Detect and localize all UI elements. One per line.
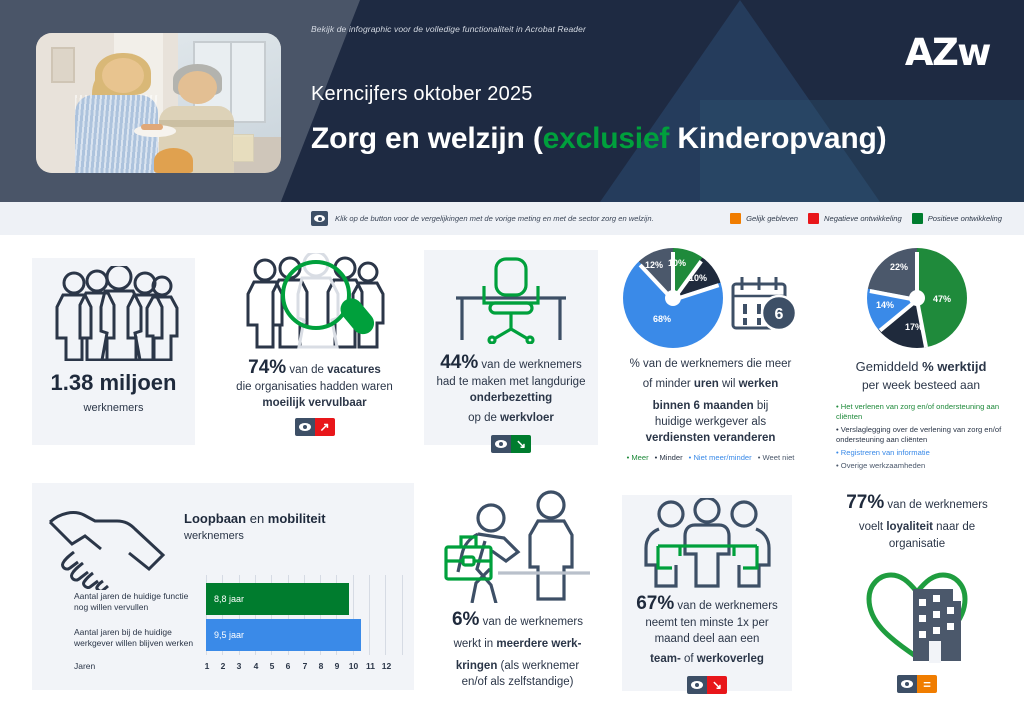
eye-icon[interactable] [311, 211, 328, 226]
vacancies-badge[interactable]: ↗ [295, 418, 335, 436]
loyalty-line2-c: naar de [933, 521, 975, 533]
pie-label-nietmeerminder: 68% [653, 314, 671, 324]
legend-key-positief: Positieve ontwikkeling [912, 213, 1002, 224]
pie-chart-worktime: 47% 17% 14% 22% [867, 248, 967, 348]
understaffing-value: 44% [440, 352, 478, 373]
equals-icon[interactable]: = [917, 675, 937, 693]
worktime-title: Gemiddeld % werktijd per week besteed aa… [822, 356, 1020, 394]
understaffing-stat: 44% van de werknemers had te maken met l… [424, 350, 598, 454]
legend-label-negatief: Negatieve ontwikkeling [824, 214, 902, 223]
worktime-legend-zorg: Het verlenen van zorg en/of ondersteunin… [836, 402, 1020, 422]
meetings-stat: 67% van de werknemers neemt ten minste 1… [622, 591, 792, 695]
title-part-1: Zorg en welzijn ( [311, 122, 543, 155]
vacancies-value: 74% [248, 357, 286, 378]
worktime-legend-verslag: Verslaglegging over de verlening van zor… [836, 425, 1020, 445]
hours-cap-l2c: wil [719, 378, 739, 390]
title-highlight: exclusief [543, 122, 670, 155]
infographic-page: Bekijk de infographic voor de volledige … [0, 0, 1024, 703]
card-loyalty: 77% van de werknemers voelt loyaliteit n… [812, 490, 1022, 695]
legend-swatch-green [912, 213, 923, 224]
legend-keys: Gelijk gebleven Negatieve ontwikkeling P… [730, 202, 1002, 235]
eye-icon[interactable] [897, 675, 917, 693]
people-with-magnifier-icon [222, 250, 407, 355]
eye-icon[interactable] [491, 435, 511, 453]
xtick-3: 3 [232, 661, 246, 671]
meetings-line4-a: team- [650, 653, 681, 665]
card-multijob: 6% van de werknemers werkt in meerdere w… [420, 483, 615, 693]
workers-stat: 1.38 miljoen werknemers [32, 368, 195, 416]
card-meetings: 67% van de werknemers neemt ten minste 1… [622, 495, 792, 691]
svg-text:6: 6 [775, 306, 784, 323]
hours-cap-l4: huidige werkgever als [608, 415, 813, 430]
understaffing-line2: had te maken met langdurige [424, 375, 598, 390]
bar-1: 9,5 jaar [206, 619, 361, 651]
multijob-line3-rest: (als werknemer [497, 660, 579, 672]
eye-icon[interactable] [687, 676, 707, 694]
title-part-2: Kinderopvang) [669, 122, 886, 155]
xtick-9: 9 [330, 661, 344, 671]
vacancies-line1-rest: van de [286, 364, 327, 376]
worktime-subtitle: per week besteed aan [822, 377, 1020, 393]
pie-label-minder: 10% [689, 273, 707, 283]
pie-label-registreren: 14% [876, 300, 894, 310]
bar-label-0: Aantal jaren de huidige functie nog will… [74, 591, 202, 613]
pie-label-zorg: 47% [933, 294, 951, 304]
legend-swatch-orange [730, 213, 741, 224]
bar-value-1: 9,5 jaar [214, 630, 244, 640]
multijob-line1-rest: van de werknemers [479, 616, 583, 628]
pie-legend-meer: Meer [627, 453, 649, 462]
header-photo [36, 33, 281, 173]
career-bar-chart: Aantal jaren de huidige functie nog will… [46, 575, 402, 680]
vacancies-line2: die organisaties hadden waren [222, 380, 407, 395]
legend-label-positief: Positieve ontwikkeling [928, 214, 1002, 223]
workers-label: werknemers [32, 401, 195, 416]
card-workers: 1.38 miljoen werknemers [32, 258, 195, 445]
legend-key-gelijk: Gelijk gebleven [730, 213, 798, 224]
meeting-table-icon [622, 495, 792, 591]
vacancies-line3: moeilijk vervulbaar [222, 396, 407, 411]
worktime-title-b: % werktijd [922, 359, 986, 374]
hours-caption: % van de werknemers die meer of minder u… [608, 357, 813, 446]
xtick-2: 2 [216, 661, 230, 671]
page-header: Bekijk de infographic voor de volledige … [0, 0, 1024, 202]
xtick-6: 6 [281, 661, 295, 671]
bar-value-0: 8,8 jaar [214, 594, 244, 604]
loyalty-line2-b: loyaliteit [886, 521, 933, 533]
hours-cap-l2d: werken [739, 378, 779, 390]
pie-label-weetniet: 12% [645, 260, 663, 270]
heart-and-building-icon [812, 558, 1022, 668]
calendar-icon: 6 [728, 274, 798, 336]
acrobat-reader-note: Bekijk de infographic voor de volledige … [311, 24, 586, 34]
vacancies-line1-bold: vacatures [327, 364, 381, 376]
career-title-b: en [246, 511, 268, 526]
pie-label-verslag: 17% [905, 322, 923, 332]
hours-cap-l2a: of minder [643, 378, 694, 390]
loyalty-stat: 77% van de werknemers voelt loyaliteit n… [812, 490, 1022, 552]
understaffing-line4-bold: werkvloer [500, 412, 554, 424]
eye-icon[interactable] [295, 418, 315, 436]
understaffing-line4-rest: op de [468, 412, 500, 424]
worktime-title-a: Gemiddeld [856, 359, 922, 374]
pie-legend-worktime: Het verlenen van zorg en/of ondersteunin… [822, 402, 1020, 472]
career-subtitle: werknemers [184, 530, 326, 542]
loyalty-line3: organisatie [812, 537, 1022, 552]
legend-key-negatief: Negatieve ontwikkeling [808, 213, 902, 224]
card-understaffing: 44% van de werknemers had te maken met l… [424, 250, 598, 445]
career-title-c: mobiliteit [268, 511, 326, 526]
card-vacancies: 74% van de vacatures die organisaties ha… [222, 250, 407, 450]
loyalty-badge[interactable]: = [897, 675, 937, 693]
workers-value: 1.38 miljoen [32, 368, 195, 397]
walking-person-with-briefcase-icon [420, 483, 615, 605]
xtick-11: 11 [362, 661, 379, 671]
xtick-12: 12 [378, 661, 395, 671]
understaffing-badge[interactable]: ↘ [491, 435, 531, 453]
bar-label-1: Aantal jaren bij de huidige werkgever wi… [74, 627, 202, 649]
meetings-line1-rest: van de werknemers [674, 600, 778, 612]
pie-legend-minder: Minder [655, 453, 683, 462]
meetings-line3: maand deel aan een [622, 632, 792, 647]
multijob-line4: en/of als zelfstandige) [420, 675, 615, 690]
meetings-line4-c: werkoverleg [697, 653, 764, 665]
vacancies-stat: 74% van de vacatures die organisaties ha… [222, 355, 407, 438]
multijob-line2-a: werkt in [454, 638, 497, 650]
xtick-5: 5 [265, 661, 279, 671]
bar-axis-title: Jaren [74, 661, 95, 671]
hours-cap-l3a: binnen 6 maanden [653, 400, 754, 412]
hours-cap-l5: verdiensten veranderen [608, 431, 813, 446]
xtick-1: 1 [200, 661, 214, 671]
loyalty-value: 77% [846, 492, 884, 513]
meetings-value: 67% [636, 593, 674, 614]
multijob-stat: 6% van de werknemers werkt in meerdere w… [420, 607, 615, 691]
pie-legend-hours: Meer Minder Niet meer/minder Weet niet [608, 453, 813, 462]
legend-swatch-red [808, 213, 819, 224]
xtick-8: 8 [314, 661, 328, 671]
arrow-up-icon[interactable]: ↗ [315, 418, 335, 436]
arrow-down-icon[interactable]: ↘ [707, 676, 727, 694]
pie-legend-nietmeerminder: Niet meer/minder [689, 453, 752, 462]
card-hours: 10% 10% 68% 12% 6 % van de werknemers di… [608, 248, 813, 470]
header-kicker: Kerncijfers oktober 2025 [311, 83, 533, 106]
hours-cap-l3b: bij [754, 400, 769, 412]
meetings-line4-b: of [681, 653, 697, 665]
understaffing-line1-rest: van de werknemers [478, 359, 582, 371]
career-title-a: Loopbaan [184, 511, 246, 526]
understaffing-line3: onderbezetting [424, 391, 598, 406]
pie-label-overige: 22% [890, 262, 908, 272]
group-of-people-icon [32, 258, 195, 368]
xtick-7: 7 [298, 661, 312, 671]
card-worktime: 47% 17% 14% 22% Gemiddeld % werktijd per… [822, 248, 1020, 470]
page-title: Zorg en welzijn (exclusief Kinderopvang) [311, 122, 886, 156]
multijob-line2-b: meerdere werk- [496, 638, 581, 650]
legend-label-gelijk: Gelijk gebleven [746, 214, 798, 223]
meetings-line2: neemt ten minste 1x per [622, 616, 792, 631]
worktime-legend-registreren: Registreren van informatie [836, 448, 1020, 458]
card-career: Loopbaan en mobiliteit werknemers Aantal… [32, 483, 414, 690]
arrow-down-icon[interactable]: ↘ [511, 435, 531, 453]
meetings-badge[interactable]: ↘ [687, 676, 727, 694]
bar-0: 8,8 jaar [206, 583, 349, 615]
multijob-line3-b: kringen [456, 660, 498, 672]
loyalty-line1-rest: van de werknemers [884, 499, 988, 511]
pie-label-meer: 10% [668, 258, 686, 268]
pie-chart-hours: 10% 10% 68% 12% [623, 248, 723, 348]
desk-and-chair-icon [424, 250, 598, 350]
azw-logo[interactable]: AZw [905, 31, 990, 74]
xtick-4: 4 [249, 661, 263, 671]
worktime-legend-overige: Overige werkzaamheden [836, 461, 1020, 471]
legend-instruction: Klik op de button voor de vergelijkingen… [335, 214, 654, 223]
hours-cap-l1: % van de werknemers die meer [608, 357, 813, 372]
multijob-value: 6% [452, 609, 479, 630]
pie-legend-weetniet: Weet niet [758, 453, 795, 462]
legend-bar: Klik op de button voor de vergelijkingen… [0, 202, 1024, 235]
loyalty-line2-a: voelt [859, 521, 887, 533]
xtick-10: 10 [345, 661, 362, 671]
hours-cap-l2b: uren [694, 378, 719, 390]
